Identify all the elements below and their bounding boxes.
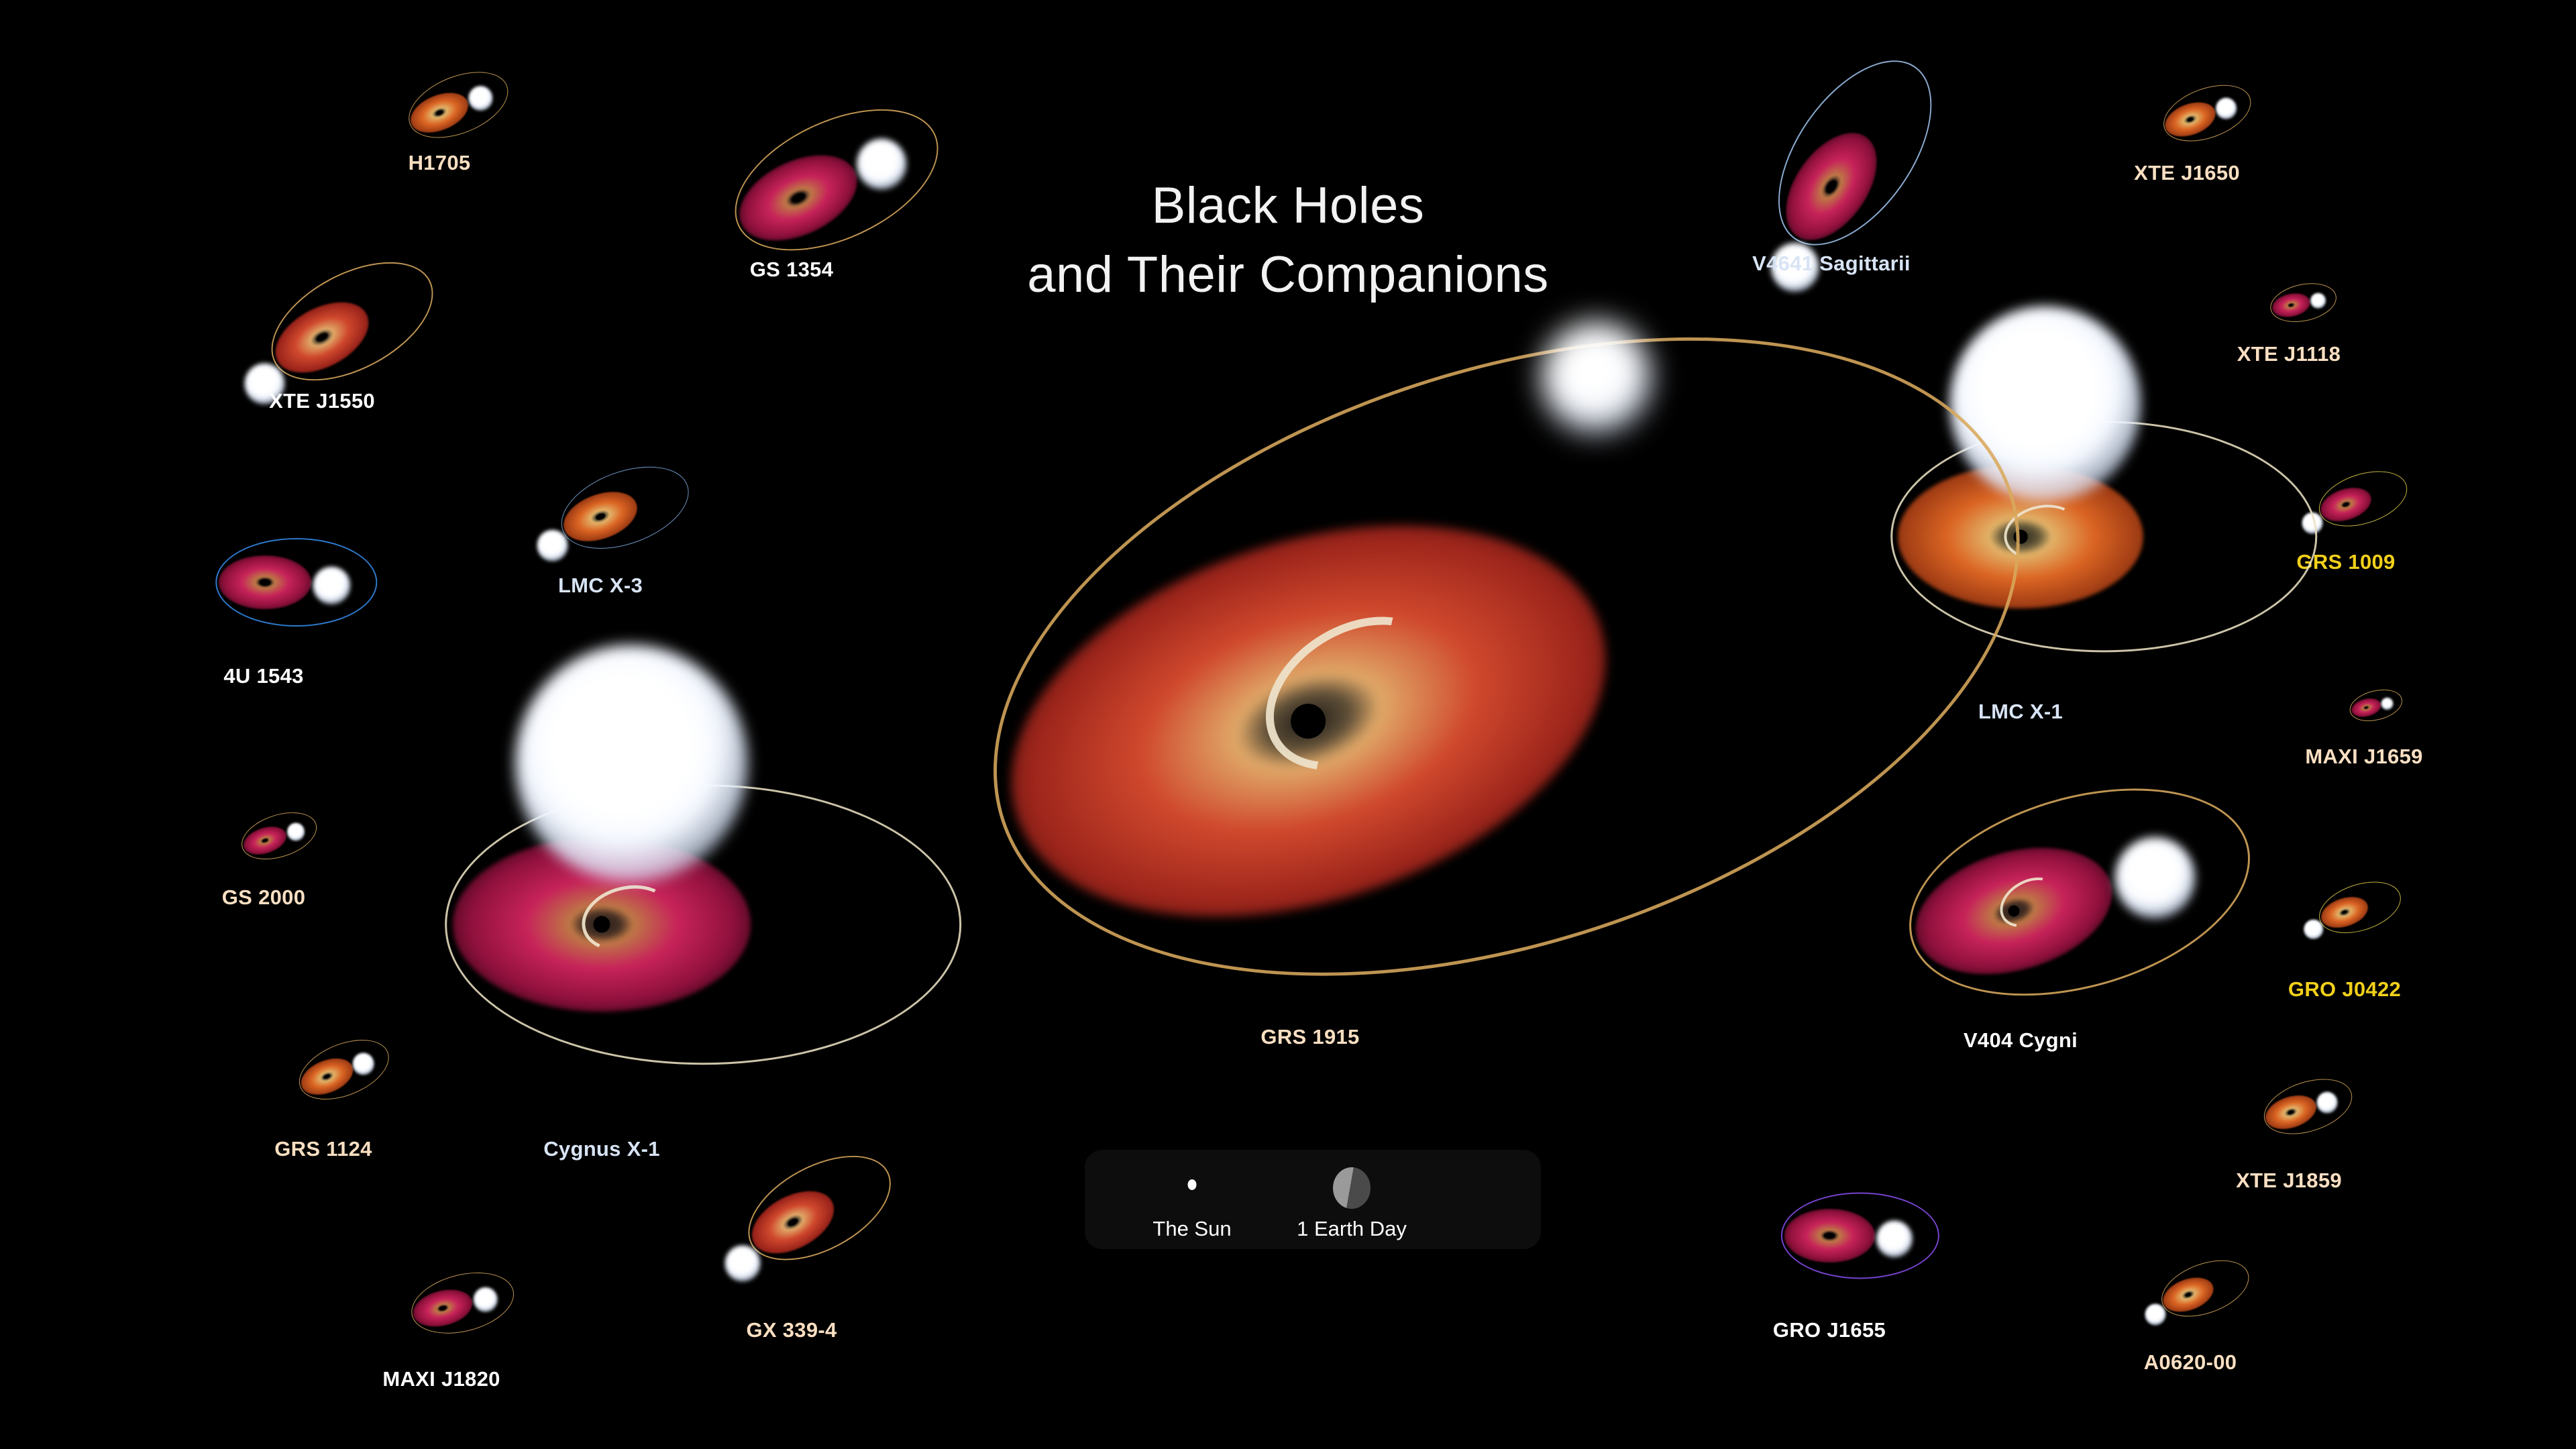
system-label-h1705: H1705 [409,151,471,175]
visualization-canvas: Black Holes and Their Companions H1705GS… [0,0,2576,1449]
system-label-gs-1354: GS 1354 [750,258,833,282]
system-label-maxi-j1820: MAXI J1820 [382,1367,500,1391]
companion-star [857,138,906,189]
system-label-cygnus-x-1: Cygnus X-1 [543,1137,660,1161]
system-label-gro-j1655: GRO J1655 [1773,1318,1886,1342]
system-label-4u-1543: 4U 1543 [223,664,303,688]
system-label-lmc-x-1: LMC X-1 [1978,700,2063,724]
companion-star [2115,837,2196,918]
legend-item-sun: The Sun [1112,1150,1273,1249]
system-label-xte-j1550: XTE J1550 [269,389,375,413]
companion-star [2304,920,2323,939]
companion-star [468,86,492,111]
system-label-a0620-00: A0620-00 [2144,1350,2237,1375]
system-label-gs-2000: GS 2000 [222,885,305,910]
system-label-grs-1915: GRS 1915 [1260,1025,1359,1049]
companion-star [313,567,350,604]
companion-star [2310,293,2326,309]
sun-dot-icon [1188,1179,1197,1190]
companion-star [724,1245,760,1281]
companion-star [2381,698,2394,710]
companion-star [1876,1220,1913,1257]
companion-star [515,645,747,882]
companion-star [2317,1091,2338,1113]
companion-star [2216,97,2237,119]
half-lit-disc-icon [1333,1167,1371,1209]
system-label-gx-339-4: GX 339-4 [746,1318,837,1342]
legend-label-earth-day: 1 Earth Day [1297,1217,1407,1241]
system-label-xte-j1859: XTE J1859 [2236,1169,2342,1193]
accretion-disk [1784,1209,1875,1262]
system-label-xte-j1118: XTE J1118 [2237,342,2341,366]
system-label-v4641-sagittarii: V4641 Sagittarii [1752,252,1911,276]
system-label-grs-1124: GRS 1124 [274,1137,372,1161]
companion-star [1542,321,1652,434]
system-label-maxi-j1659: MAXI J1659 [2305,745,2422,769]
legend-item-earth-day: 1 Earth Day [1271,1150,1432,1249]
system-label-lmc-x-3: LMC X-3 [558,574,643,598]
system-label-v404-cygni: V404 Cygni [1964,1028,2078,1053]
system-label-xte-j1650: XTE J1650 [2134,161,2240,185]
companion-star [2145,1304,2165,1326]
companion-star [474,1287,498,1312]
scale-legend-panel: The Sun 1 Earth Day [1085,1150,1541,1249]
legend-label-sun: The Sun [1152,1217,1231,1241]
accretion-disk [219,555,311,610]
system-label-gro-j0422: GRO J0422 [2288,977,2401,1002]
companion-star [537,530,568,561]
